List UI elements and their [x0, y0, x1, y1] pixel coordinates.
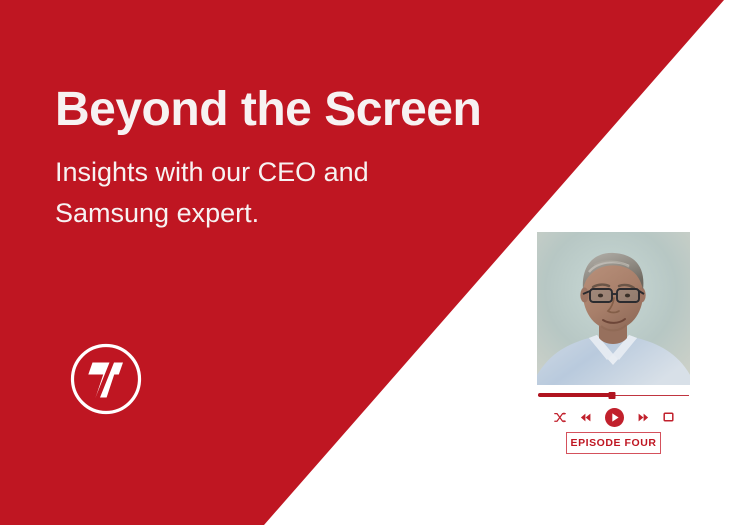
shuffle-icon[interactable]: [554, 412, 566, 423]
audio-player: [537, 392, 690, 427]
play-icon[interactable]: [605, 408, 624, 427]
progress-handle[interactable]: [608, 392, 615, 399]
status-badge: EPISODE FOUR: [566, 432, 661, 454]
progress-fill: [538, 393, 612, 397]
episode-badge-label: EPISODE FOUR: [571, 437, 657, 449]
headline-block: Beyond the Screen Insights with our CEO …: [55, 84, 525, 234]
page-title: Beyond the Screen: [55, 84, 525, 136]
podcast-promo-canvas: Beyond the Screen Insights with our CEO …: [0, 0, 750, 525]
page-subtitle: Insights with our CEO and Samsung expert…: [55, 152, 455, 234]
player-controls: [537, 407, 690, 427]
stop-icon[interactable]: [663, 412, 674, 422]
guest-portrait: [537, 232, 690, 385]
t-circle-logo: [68, 341, 144, 417]
next-icon[interactable]: [638, 413, 649, 422]
previous-icon[interactable]: [580, 413, 591, 422]
progress-slider[interactable]: [538, 392, 689, 399]
